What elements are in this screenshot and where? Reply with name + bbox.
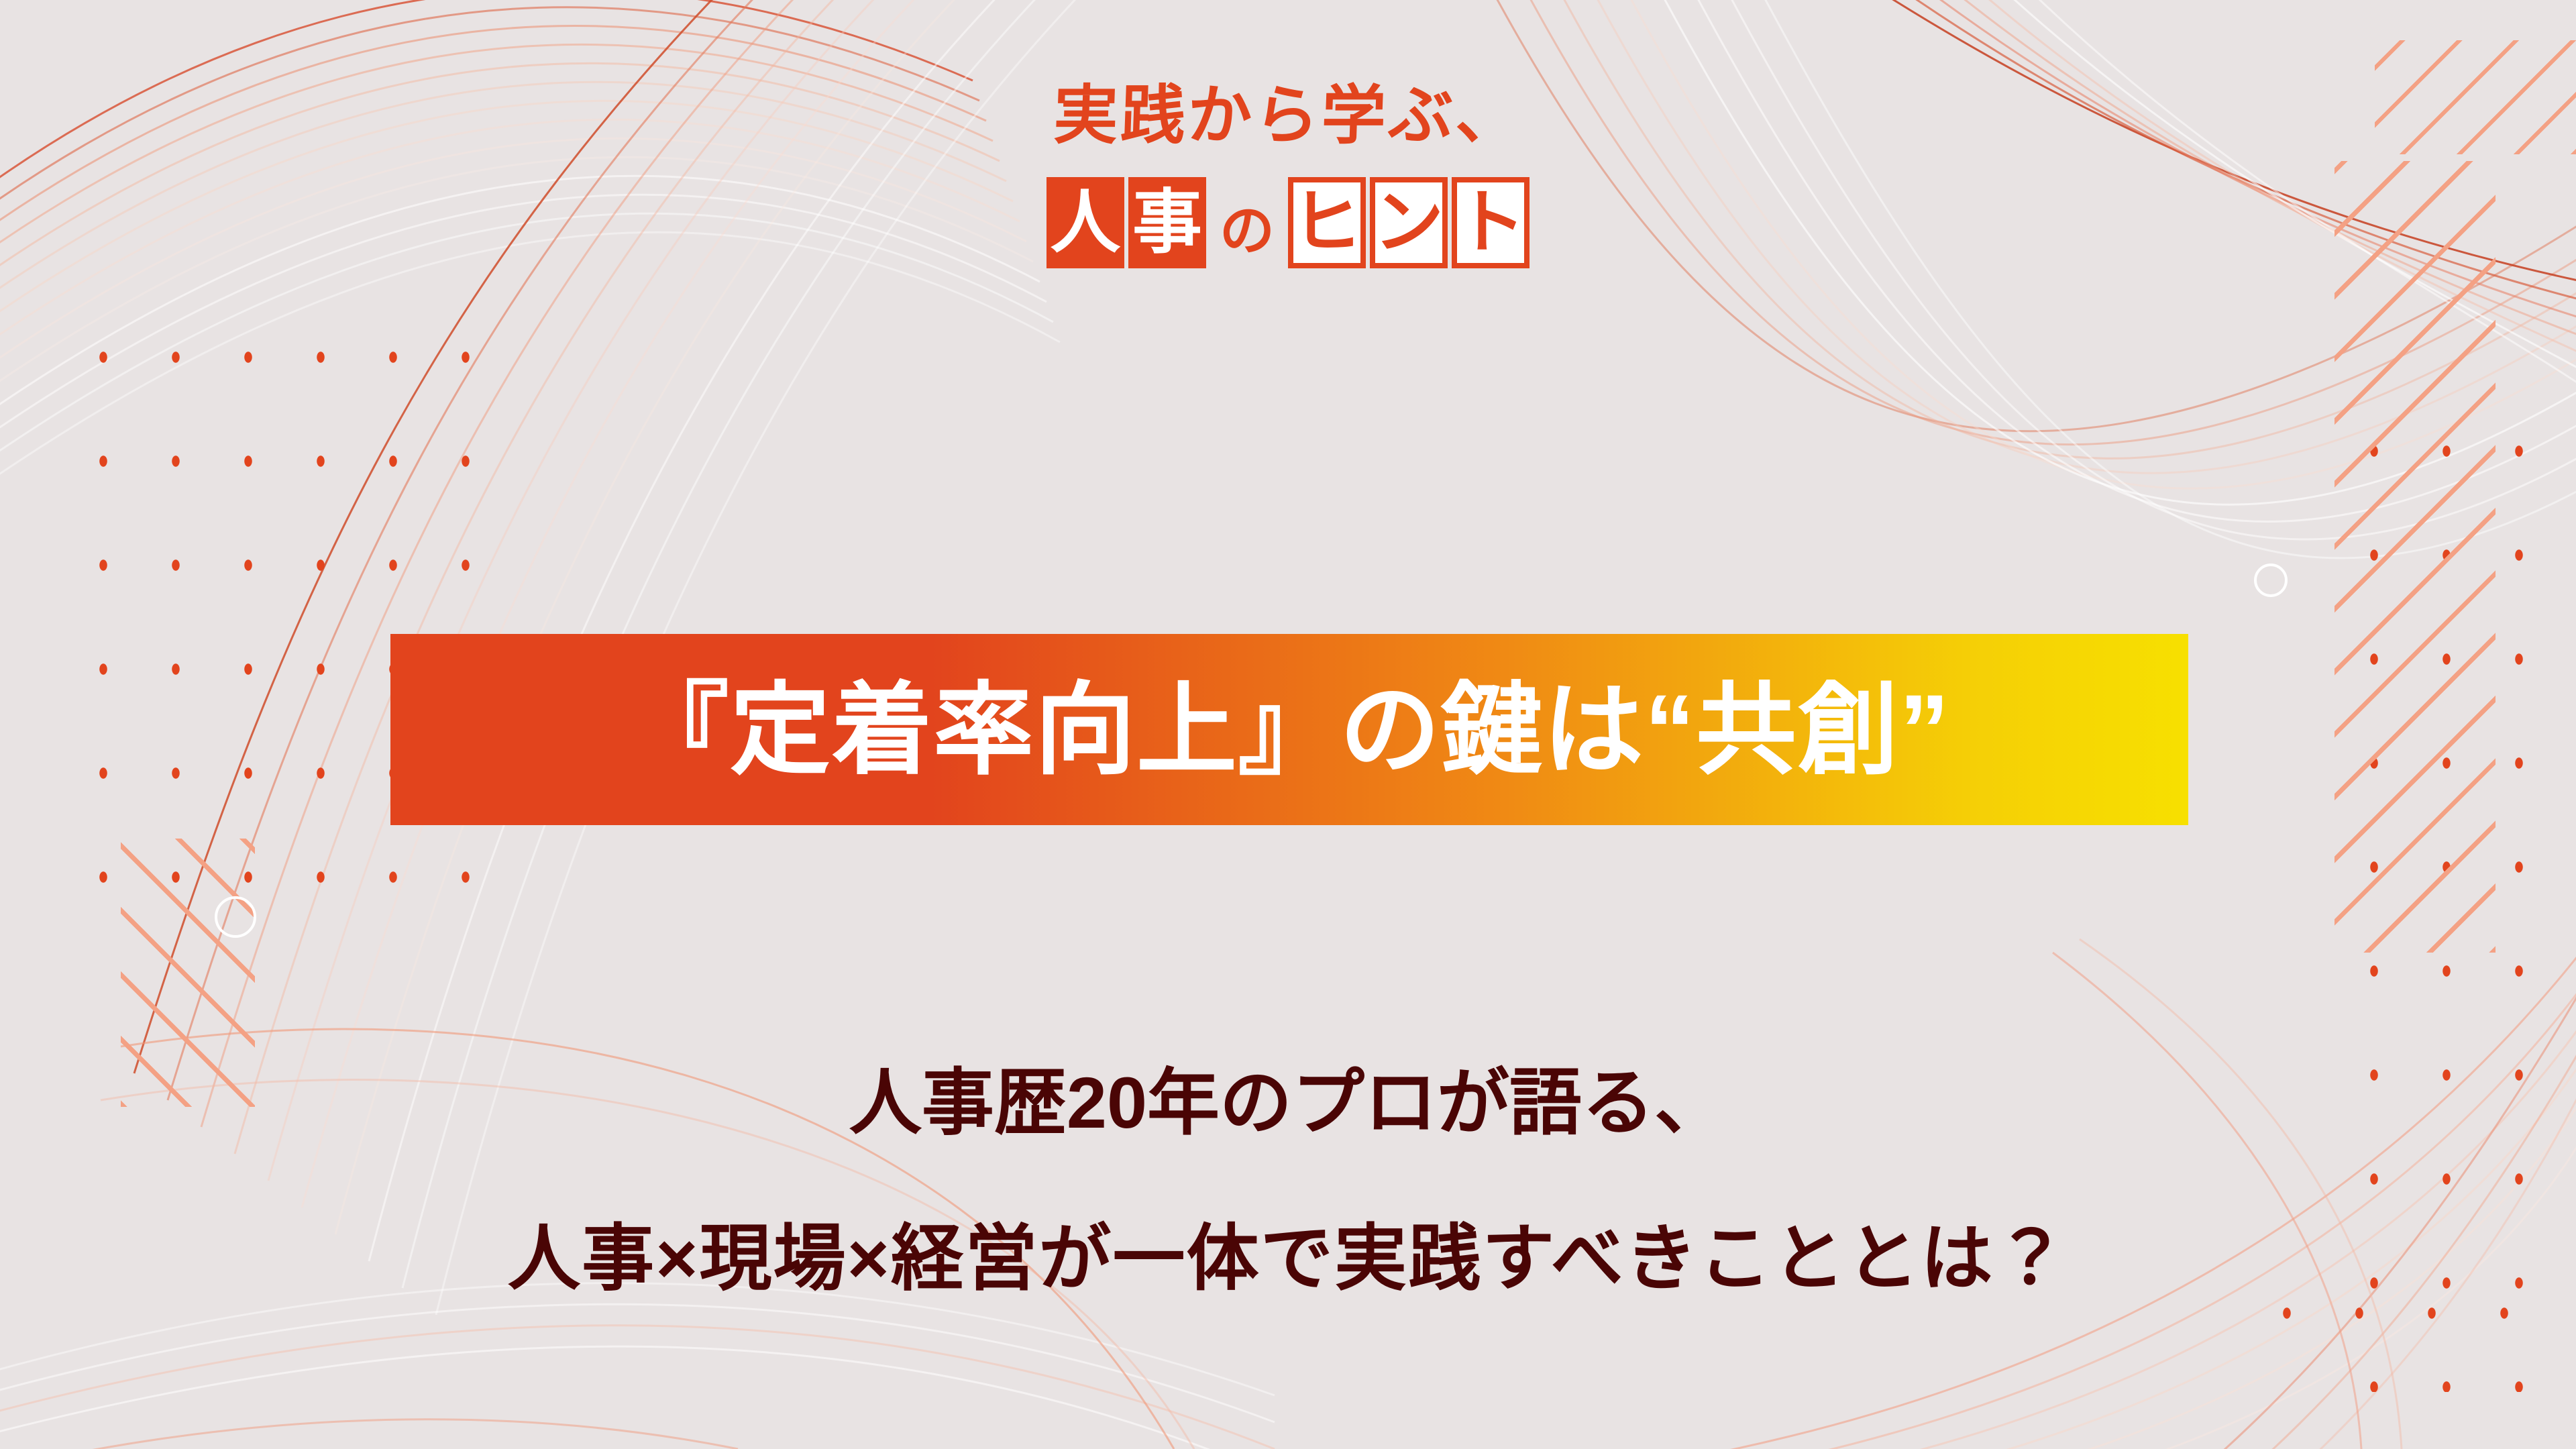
main-title-banner: 『定着率向上』の鍵は“共創” [390,634,2188,825]
main-title-text: 『定着率向上』の鍵は“共創” [628,680,1950,780]
logo-box-jin: 人 [1046,177,1124,268]
circle-outline-left [215,896,256,938]
logo-particle-no: の [1220,204,1275,268]
logo-box-ji: 事 [1128,177,1206,268]
diagonal-stripes-right [2334,161,2495,953]
wave-lines-bottom-left [0,1283,1275,1449]
eyebrow-text: 実践から学ぶ、 [0,80,2576,152]
logo-box-hi: ヒ [1288,177,1366,268]
dot-grid-left [67,305,523,936]
subtitle-line-2: 人事×現場×経営が一体で実践すべきこととは？ [0,1222,2576,1295]
subtitle-group: 人事歴20年のプロが語る、 人事×現場×経営が一体で実践すべきこととは？ [0,1067,2576,1295]
header-group: 実践から学ぶ、 人 事 の ヒ ン ト [0,80,2576,268]
circle-outline-right [2254,563,2288,597]
logo-box-to: ト [1452,177,1529,268]
subtitle-line-1: 人事歴20年のプロが語る、 [0,1067,2576,1139]
slide-canvas: 実践から学ぶ、 人 事 の ヒ ン ト 『定着率向上』の鍵は“共創” 人事歴20… [0,0,2576,1449]
series-logo: 人 事 の ヒ ン ト [0,177,2576,268]
logo-box-n: ン [1370,177,1448,268]
